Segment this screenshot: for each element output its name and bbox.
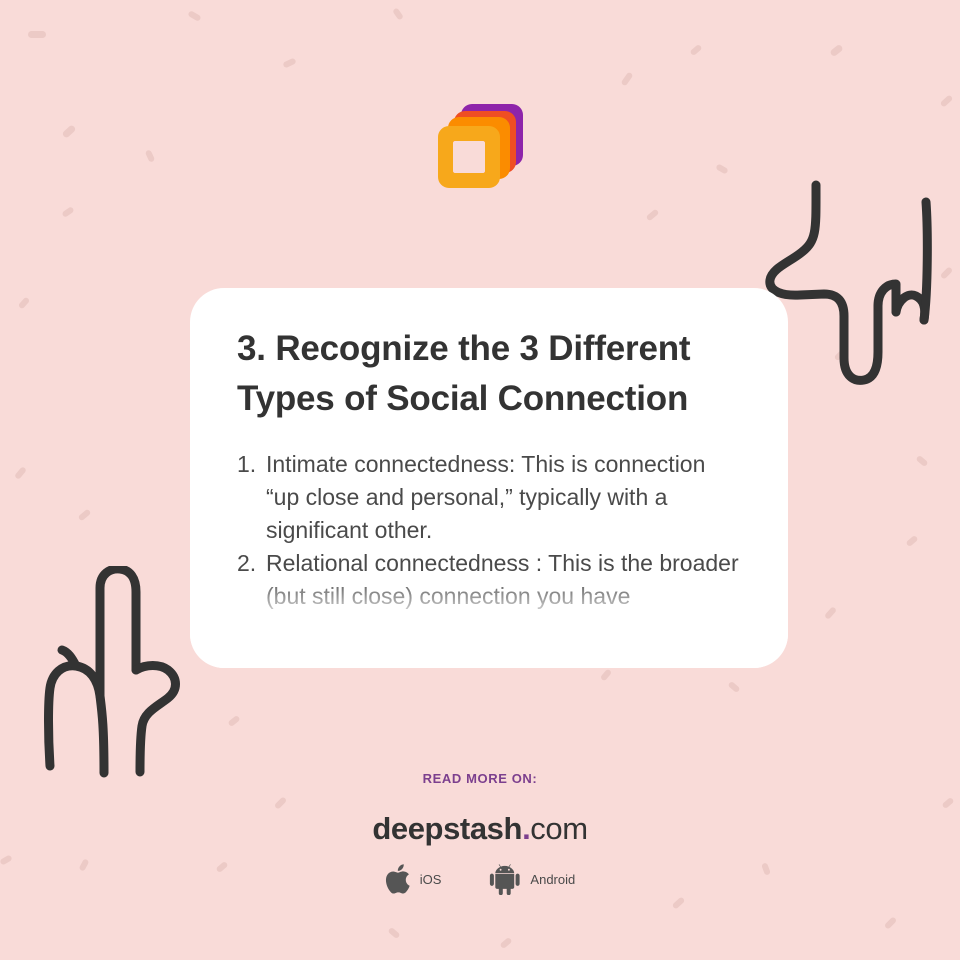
- confetti-speck: [28, 31, 46, 38]
- wordmark-tld: com: [530, 811, 587, 846]
- poster-canvas: 3. Recognize the 3 Different Types of So…: [0, 0, 960, 960]
- list-item: 1. Intimate connectedness: This is conne…: [237, 448, 742, 547]
- confetti-speck: [600, 668, 612, 681]
- hand-pointing-down-icon: [762, 180, 938, 392]
- confetti-speck: [282, 58, 296, 69]
- confetti-speck: [274, 796, 287, 809]
- confetti-speck: [499, 937, 512, 949]
- confetti-speck: [392, 7, 404, 20]
- ios-label: iOS: [420, 872, 442, 887]
- hand-pointing-up-icon: [28, 566, 204, 778]
- apple-icon: [385, 864, 411, 895]
- list-item-text: Intimate connectedness: This is connecti…: [266, 448, 742, 547]
- confetti-speck: [621, 72, 634, 87]
- confetti-speck: [941, 797, 954, 809]
- list-item-text: Relational connectedness : This is the b…: [266, 547, 742, 613]
- confetti-speck: [672, 896, 686, 909]
- list-item-number: 1.: [237, 448, 266, 481]
- confetti-speck: [727, 681, 740, 693]
- idea-card: 3. Recognize the 3 Different Types of So…: [190, 288, 788, 668]
- confetti-speck: [905, 535, 918, 547]
- confetti-speck: [646, 209, 660, 222]
- confetti-speck: [829, 44, 844, 58]
- confetti-speck: [61, 206, 74, 218]
- confetti-speck: [884, 916, 897, 929]
- confetti-speck: [915, 455, 928, 467]
- deepstash-wordmark[interactable]: deepstash.com: [0, 811, 960, 847]
- confetti-speck: [187, 10, 201, 22]
- read-more-label: READ MORE ON:: [0, 771, 960, 786]
- confetti-speck: [18, 297, 30, 310]
- logo-layer-gold: [438, 126, 500, 188]
- connection-types-list: 1. Intimate connectedness: This is conne…: [237, 448, 742, 613]
- ios-badge[interactable]: iOS: [385, 864, 442, 895]
- wordmark-name: deepstash: [372, 811, 522, 846]
- confetti-speck: [689, 44, 702, 56]
- confetti-speck: [14, 466, 27, 480]
- list-item-number: 2.: [237, 547, 266, 580]
- confetti-speck: [940, 266, 953, 279]
- android-badge[interactable]: Android: [489, 864, 575, 895]
- confetti-speck: [824, 606, 837, 620]
- app-store-badges: iOS Android: [0, 864, 960, 895]
- android-label: Android: [530, 872, 575, 887]
- list-item: 2. Relational connectedness : This is th…: [237, 547, 742, 613]
- page-title: 3. Recognize the 3 Different Types of So…: [237, 324, 742, 424]
- android-icon: [489, 864, 521, 895]
- brand-logo: [0, 98, 960, 193]
- confetti-speck: [78, 509, 92, 522]
- confetti-speck: [227, 715, 240, 727]
- confetti-speck: [387, 927, 400, 939]
